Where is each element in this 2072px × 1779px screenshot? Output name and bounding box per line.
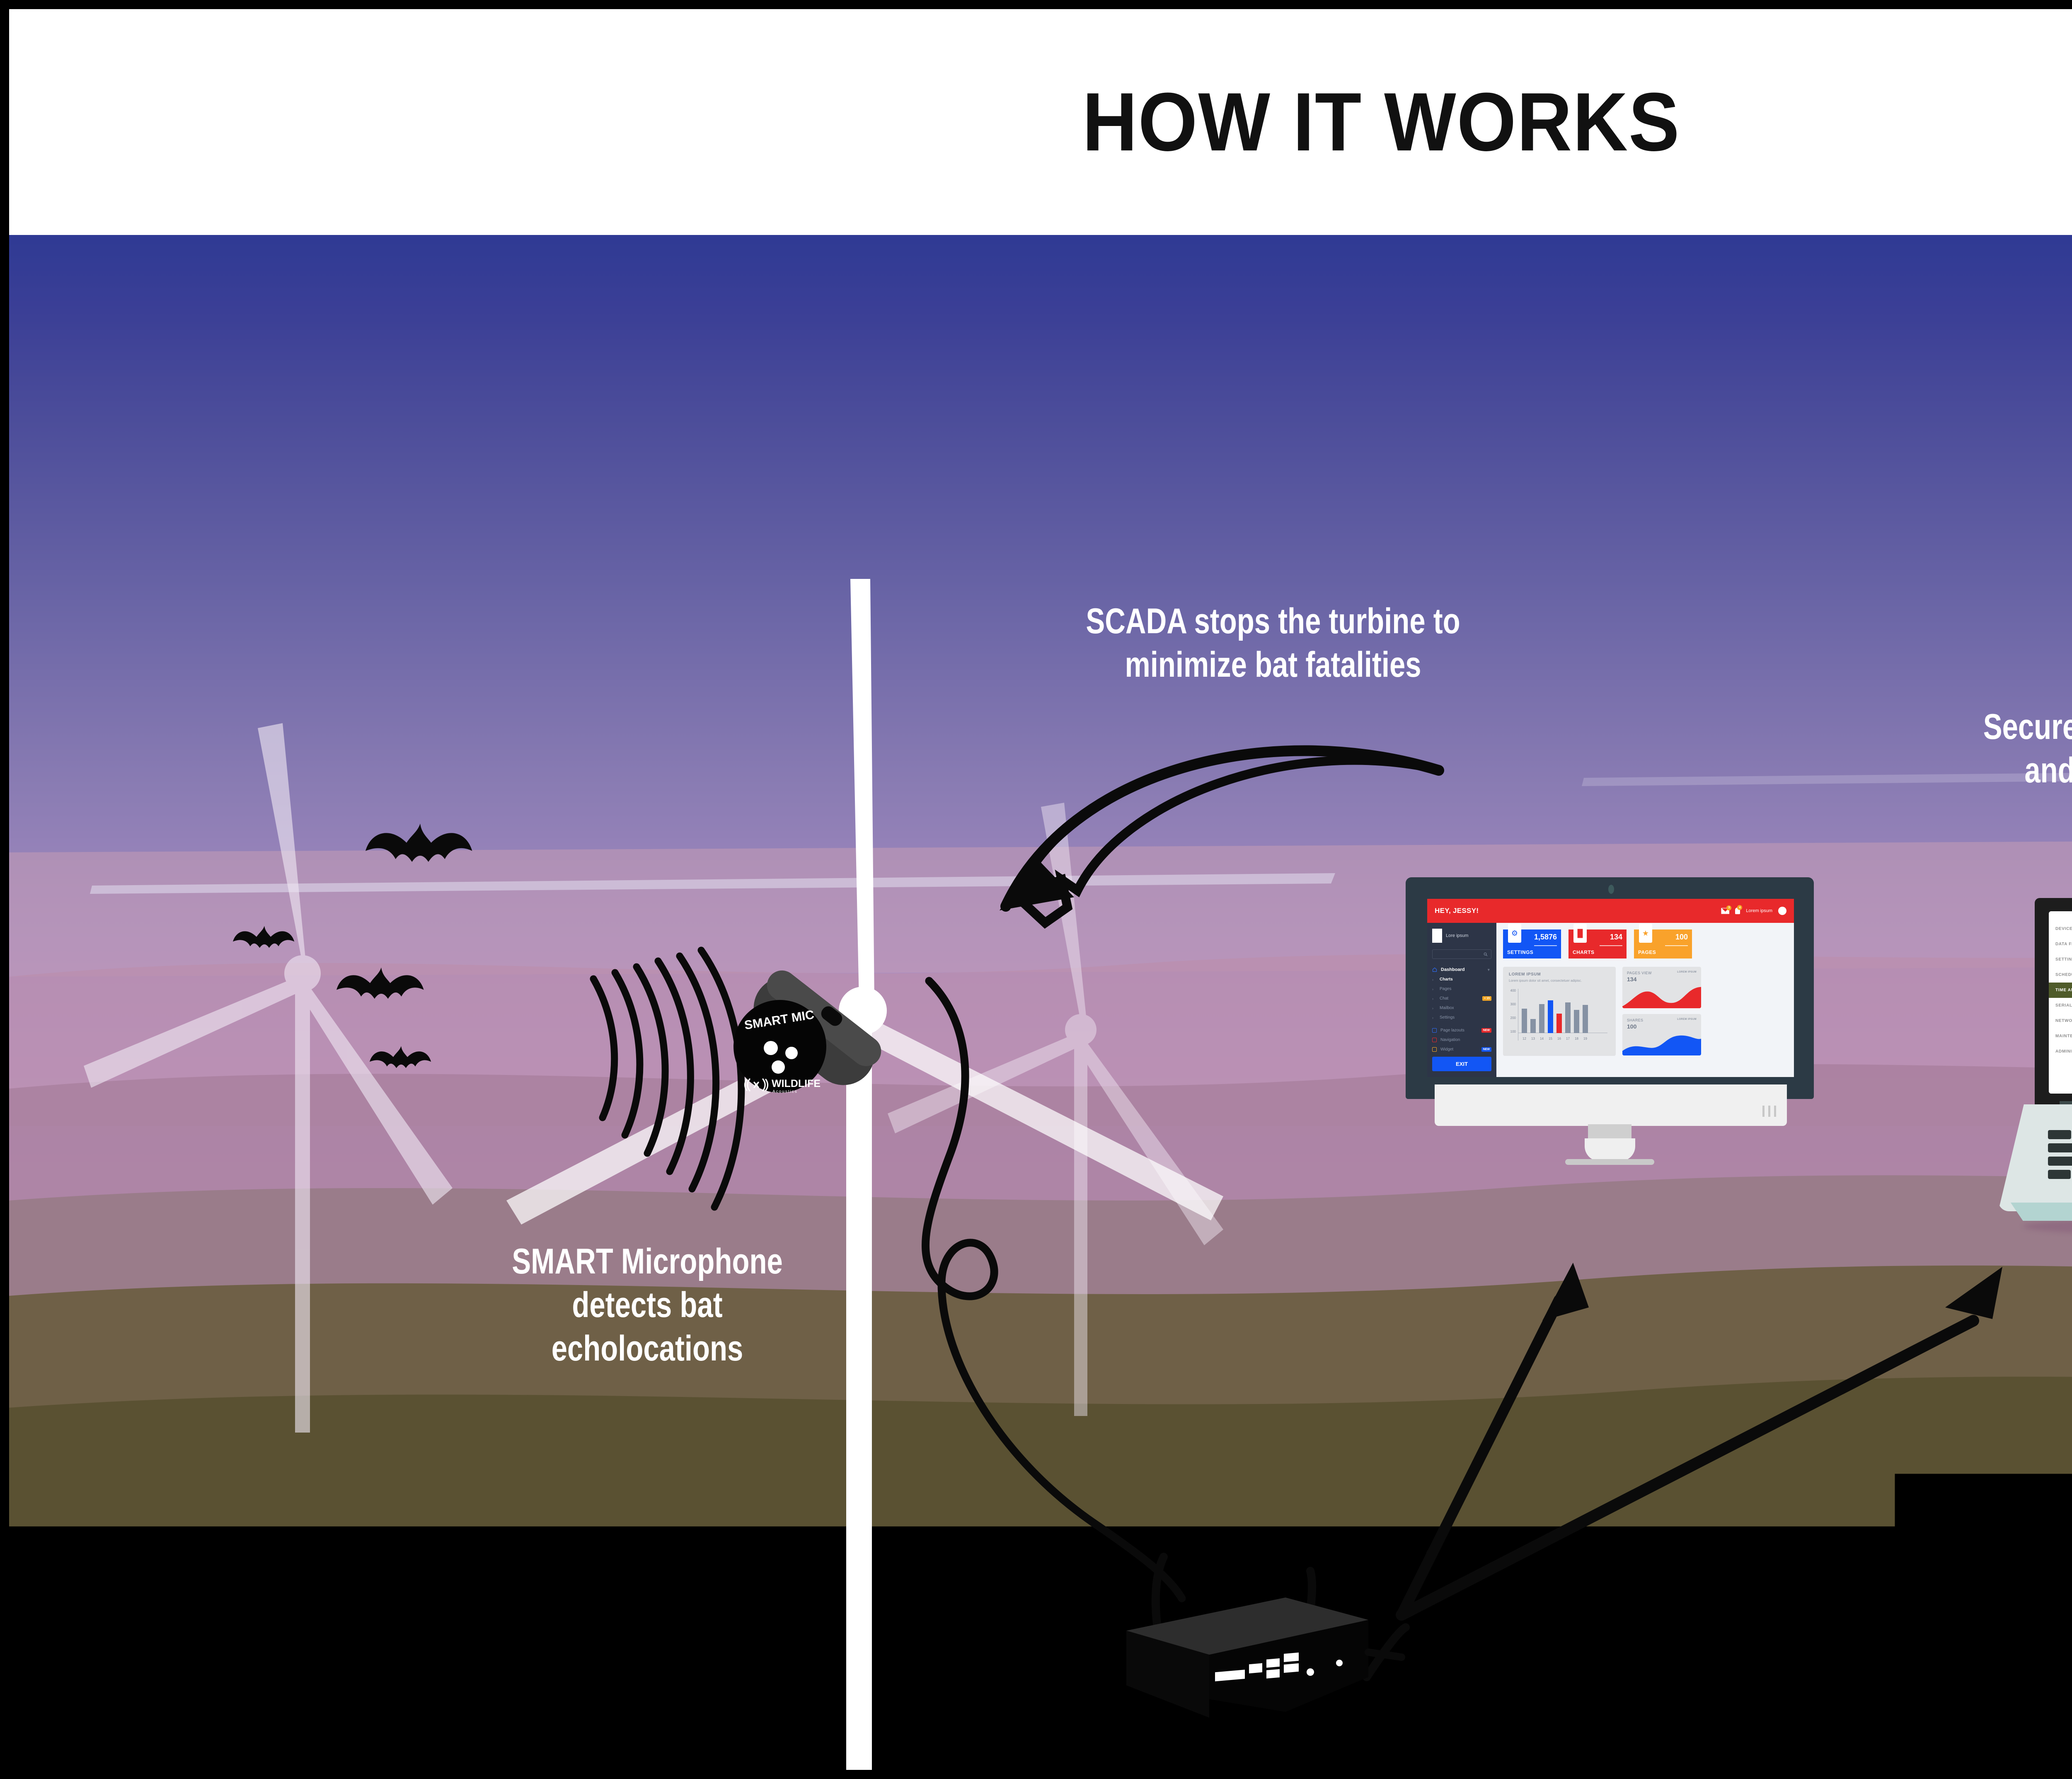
- monitor-bezel: HEY, JESSY! 3 4 Lorem ipsum: [1406, 877, 1814, 1099]
- sidebar-item-label: Settings: [1440, 1015, 1491, 1020]
- smart-microphone: SMART MIC WILDLIFE Acoustics: [705, 935, 921, 1109]
- laptop-nav-time-and-location[interactable]: TIME AND LOCATION: [2049, 983, 2072, 998]
- chevron-right-icon: ›: [1432, 997, 1436, 1001]
- mini-value: 100: [1627, 1023, 1643, 1030]
- bar: [1522, 1009, 1527, 1034]
- laptop-foot: [2007, 1203, 2072, 1221]
- dashboard-main: ⚙1,5876SETTINGS█134CHARTS★100PAGES LOREM…: [1496, 923, 1794, 1077]
- label-secure-access: Securely access bat recordings and manag…: [1849, 705, 2072, 836]
- laptop-nav-serial-output[interactable]: SERIAL OUTPUT: [2049, 998, 2072, 1013]
- logo-label: Lore ipsum: [1446, 933, 1468, 938]
- stat-card-value: 100: [1675, 933, 1688, 942]
- label-scada: SCADA stops the turbine to minimize bat …: [975, 600, 1571, 687]
- laptop-nav-setting-profiles[interactable]: SETTING PROFILES: [2049, 952, 2072, 967]
- controller-svg: [1103, 1553, 1435, 1727]
- mini-panel-pages-view: PAGES VIEW134LOREM IPSUM: [1622, 967, 1701, 1008]
- laptop-nav-administration[interactable]: ADMINISTRATION: [2049, 1044, 2072, 1059]
- sidebar-logo: Lore ipsum: [1432, 929, 1491, 943]
- x-tick: 13: [1530, 1037, 1536, 1041]
- laptop-nav-schedule-profiles[interactable]: SCHEDULE PROFILES: [2049, 967, 2072, 983]
- y-tick: 100: [1509, 1030, 1516, 1034]
- avatar[interactable]: [1778, 907, 1786, 915]
- mini-note: LOREM IPSUM: [1677, 971, 1697, 973]
- monitor-screen: HEY, JESSY! 3 4 Lorem ipsum: [1427, 899, 1794, 1077]
- webcam-icon: [1608, 885, 1614, 894]
- sidebar-item-mailbox[interactable]: ›Mailbox: [1432, 1006, 1491, 1010]
- smart-mic-svg: SMART MIC WILDLIFE Acoustics: [705, 935, 921, 1109]
- sidebar-tool-label: Page lazouts: [1440, 1028, 1478, 1033]
- controller-box: [1126, 1597, 1368, 1718]
- sidebar-tool-badge: NEW: [1481, 1028, 1491, 1033]
- laptop-keyboard[interactable]: [2048, 1130, 2072, 1183]
- vent-icon: [1762, 1106, 1776, 1117]
- grid-icon: [1432, 1047, 1437, 1052]
- bar-chart-icon: █: [1573, 924, 1587, 943]
- stat-card-value: 1,5876: [1534, 933, 1557, 942]
- y-tick: 200: [1509, 1016, 1516, 1020]
- bar: [1565, 1002, 1571, 1033]
- sidebar-item-label: Chat: [1440, 996, 1479, 1001]
- mail-badge: 3: [1726, 905, 1731, 910]
- grid-icon: [1432, 1038, 1437, 1042]
- scene: SMART MIC WILDLIFE Acoustics: [9, 235, 2072, 1770]
- sidebar-item-label: Mailbox: [1440, 1006, 1491, 1010]
- bar: [1556, 1014, 1562, 1033]
- bar: [1530, 1019, 1536, 1034]
- stat-card-name: PAGES: [1638, 949, 1688, 955]
- search-icon: [1484, 952, 1488, 956]
- logo-mark-icon: [1432, 929, 1442, 943]
- chevron-right-icon: ›: [1432, 1006, 1436, 1010]
- sidebar-item-label: Pages: [1440, 987, 1491, 991]
- label-smart-controller: SMART Controller communicates with SCADA…: [894, 1758, 1673, 1770]
- header-band: HOW IT WORKS: [9, 9, 2072, 235]
- monitor-base: [1565, 1159, 1654, 1165]
- stat-card-name: SETTINGS: [1507, 949, 1557, 955]
- bar: [1574, 1010, 1579, 1034]
- mini-note: LOREM IPSUM: [1677, 1018, 1697, 1021]
- infographic-root: HOW IT WORKS: [0, 0, 2072, 1779]
- sidebar-item-label: Charts: [1440, 977, 1491, 982]
- laptop-nav-devices[interactable]: DEVICES: [2049, 921, 2072, 937]
- mini-panel-column: PAGES VIEW134LOREM IPSUMSHARES100LOREM I…: [1622, 967, 1701, 1056]
- x-tick: 18: [1574, 1037, 1579, 1041]
- sidebar-tool-page-lazouts[interactable]: Page lazoutsNEW: [1432, 1028, 1491, 1033]
- sidebar-tool-widget[interactable]: WidgetNEW: [1432, 1047, 1491, 1052]
- greeting-text: HEY, JESSY!: [1435, 907, 1479, 915]
- mic-brand-line2: WILDLIFE: [772, 1078, 821, 1089]
- dashboard-app: HEY, JESSY! 3 4 Lorem ipsum: [1427, 899, 1794, 1077]
- bar: [1539, 1004, 1544, 1033]
- laptop-nav-maintenance[interactable]: MAINTENANCE: [2049, 1029, 2072, 1044]
- laptop-nav-data-files[interactable]: DATA FILES: [2049, 937, 2072, 952]
- bar-chart-panel: LOREM IPSUM Lorem ipsum dolor sit amet, …: [1503, 967, 1616, 1056]
- bar: [1548, 1000, 1553, 1034]
- stat-card-charts[interactable]: █134CHARTS: [1569, 929, 1627, 958]
- chevron-right-icon: ›: [1432, 987, 1436, 991]
- stat-card-name: CHARTS: [1573, 949, 1622, 955]
- panel-subtext: Lorem ipsum dolor sit amet, consectetuer…: [1509, 978, 1610, 983]
- y-tick: 300: [1509, 1002, 1516, 1006]
- bell-badge: 4: [1737, 905, 1742, 910]
- x-axis-ticks: 1213141516171819: [1522, 1037, 1610, 1041]
- laptop: DEVICESDATA FILESSETTING PROFILESSCHEDUL…: [1998, 898, 2072, 1246]
- x-tick: 17: [1565, 1037, 1571, 1041]
- laptop-nav-networking[interactable]: NETWORKING: [2049, 1013, 2072, 1029]
- user-name: Lorem ipsum: [1746, 908, 1772, 913]
- bar-chart: 400300200100 1213141516171819: [1509, 989, 1610, 1041]
- laptop-nav: DEVICESDATA FILESSETTING PROFILESSCHEDUL…: [2049, 911, 2072, 1094]
- x-tick: 15: [1548, 1037, 1553, 1041]
- label-smart-microphone: SMART Microphone detects bat echolocatio…: [349, 1240, 946, 1370]
- x-tick: 14: [1539, 1037, 1544, 1041]
- sidebar-item-chat[interactable]: ›Chat+ 15: [1432, 996, 1491, 1001]
- star-icon: ★: [1639, 924, 1652, 943]
- sidebar-tool-label: Widget: [1440, 1047, 1478, 1052]
- x-tick: 16: [1556, 1037, 1562, 1041]
- page-title: HOW IT WORKS: [1082, 75, 1680, 170]
- monitor-neck-lower: [1585, 1138, 1635, 1161]
- dashboard-sidebar: Lore ipsum: [1427, 923, 1496, 1077]
- mail-icon[interactable]: 3: [1721, 908, 1729, 914]
- home-icon: [1432, 967, 1437, 972]
- chevron-down-icon: ▾: [1488, 968, 1491, 972]
- stat-card-value: 134: [1610, 933, 1622, 942]
- smart-controller: [1103, 1553, 1435, 1727]
- bell-icon[interactable]: 4: [1735, 908, 1740, 914]
- chevron-right-icon: ›: [1432, 978, 1436, 982]
- monitor-chin: [1435, 1084, 1787, 1126]
- sidebar-tool-badge: NEW: [1481, 1047, 1491, 1052]
- area-sparkline: [1622, 1033, 1701, 1055]
- desktop-monitor: HEY, JESSY! 3 4 Lorem ipsum: [1406, 877, 1814, 1151]
- mic-brand-line3: Acoustics: [772, 1089, 798, 1094]
- sidebar-item-pages[interactable]: ›Pages: [1432, 987, 1491, 991]
- stat-card-settings[interactable]: ⚙1,5876SETTINGS: [1503, 929, 1561, 958]
- sidebar-item-settings[interactable]: ›Settings: [1432, 1015, 1491, 1020]
- x-tick: 19: [1583, 1037, 1588, 1041]
- laptop-lid: DEVICESDATA FILESSETTING PROFILESSCHEDUL…: [2035, 898, 2072, 1105]
- grid-icon: [1432, 1028, 1437, 1033]
- mini-value: 134: [1627, 976, 1652, 983]
- sidebar-dashboard-label: Dashboard: [1441, 967, 1484, 972]
- chevron-right-icon: ›: [1432, 1016, 1436, 1020]
- sidebar-tool-navigation[interactable]: Navigation: [1432, 1038, 1491, 1042]
- laptop-screen: DEVICESDATA FILESSETTING PROFILESSCHEDUL…: [2049, 911, 2072, 1094]
- stat-card-pages[interactable]: ★100PAGES: [1634, 929, 1692, 958]
- y-axis-ticks: 400300200100: [1509, 989, 1518, 1034]
- mini-title: SHARES: [1627, 1018, 1643, 1022]
- sidebar-tool-label: Navigation: [1440, 1038, 1491, 1042]
- sidebar-item-charts[interactable]: ›Charts: [1432, 977, 1491, 982]
- gear-icon: ⚙: [1508, 924, 1521, 943]
- area-sparkline: [1622, 985, 1701, 1008]
- panel-heading: LOREM IPSUM: [1509, 972, 1610, 977]
- search-input[interactable]: [1432, 949, 1491, 959]
- sidebar-item-badge: + 15: [1482, 996, 1491, 1001]
- y-tick: 400: [1509, 989, 1516, 992]
- mini-panel-shares: SHARES100LOREM IPSUM: [1622, 1014, 1701, 1055]
- dashboard-topbar: HEY, JESSY! 3 4 Lorem ipsum: [1427, 899, 1794, 923]
- mini-title: PAGES VIEW: [1627, 971, 1652, 975]
- x-tick: 12: [1522, 1037, 1527, 1041]
- exit-button[interactable]: EXIT: [1432, 1057, 1491, 1071]
- bar-series: [1522, 996, 1610, 1033]
- sidebar-item-dashboard[interactable]: Dashboard ▾: [1432, 967, 1491, 972]
- bar: [1583, 1005, 1588, 1033]
- stat-card-row: ⚙1,5876SETTINGS█134CHARTS★100PAGES: [1503, 929, 1787, 958]
